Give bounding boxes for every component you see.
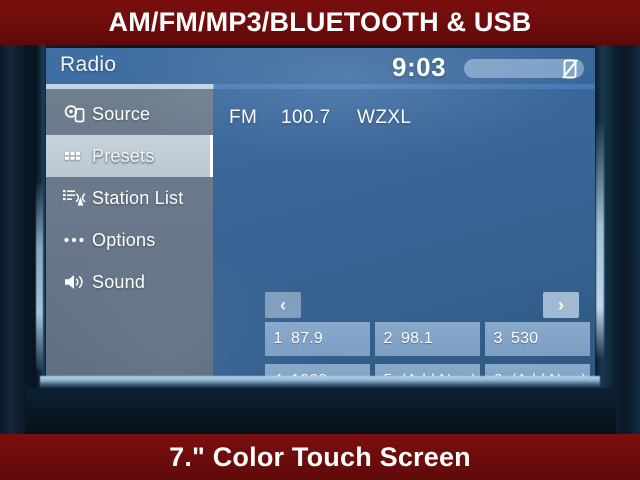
next-page-button[interactable]: › <box>543 292 579 318</box>
station-list-icon <box>58 188 92 208</box>
preset-button-3[interactable]: 3 530 <box>485 322 590 356</box>
bezel-right-highlight <box>596 120 604 360</box>
speaker-icon <box>58 273 92 291</box>
sidebar-item-sound[interactable]: Sound <box>46 261 213 303</box>
page-title: Radio <box>60 53 116 77</box>
sidebar-item-label: Source <box>92 104 213 125</box>
source-disc-icon <box>58 105 92 123</box>
presets-grid: 1 87.9 2 98.1 3 530 4 1000 5 (Add <box>265 322 590 378</box>
preset-value: 98.1 <box>401 330 480 348</box>
screen-header-bar: Radio 9:03 <box>46 48 595 86</box>
preset-value: 87.9 <box>291 330 370 348</box>
sidebar-item-options[interactable]: Options <box>46 219 213 261</box>
infotainment-screen: Radio 9:03 Sourc <box>46 48 595 378</box>
sidebar-item-label: Station List <box>92 188 213 209</box>
main-content: FM 100.7 WZXL ‹ › 1 87.9 2 98.1 3 530 <box>213 89 595 378</box>
preset-number: 3 <box>485 330 511 348</box>
preset-number: 1 <box>265 330 291 348</box>
bezel-left-highlight <box>36 180 43 370</box>
sidebar-item-label: Presets <box>92 146 210 167</box>
preset-value: 530 <box>511 330 590 348</box>
sidebar-item-station-list[interactable]: Station List <box>46 177 213 219</box>
previous-page-button[interactable]: ‹ <box>265 292 301 318</box>
options-dots-icon <box>58 236 92 244</box>
bezel-bottom-shadow <box>26 388 616 434</box>
screenshot-root: Radio 9:03 Sourc <box>0 0 640 480</box>
sidebar-item-presets[interactable]: Presets <box>46 135 213 177</box>
sidebar-menu: Source Presets <box>46 89 213 378</box>
call-sign-label: WZXL <box>357 107 411 129</box>
preset-button-1[interactable]: 1 87.9 <box>265 322 370 356</box>
clock-display: 9:03 <box>392 52 446 83</box>
sidebar-item-label: Options <box>92 230 213 251</box>
phone-disabled-icon <box>560 58 580 80</box>
sidebar-item-label: Sound <box>92 272 213 293</box>
sidebar-item-source[interactable]: Source <box>46 93 213 135</box>
presets-grid-icon <box>58 149 92 163</box>
frequency-label: 100.7 <box>281 107 357 129</box>
now-playing-info: FM 100.7 WZXL <box>229 107 411 129</box>
bottom-banner: 7." Color Touch Screen <box>0 434 640 480</box>
bezel-bottom-ledge <box>40 376 600 388</box>
band-label: FM <box>229 107 281 129</box>
preset-number: 2 <box>375 330 401 348</box>
preset-button-2[interactable]: 2 98.1 <box>375 322 480 356</box>
top-banner: AM/FM/MP3/BLUETOOTH & USB <box>0 0 640 45</box>
